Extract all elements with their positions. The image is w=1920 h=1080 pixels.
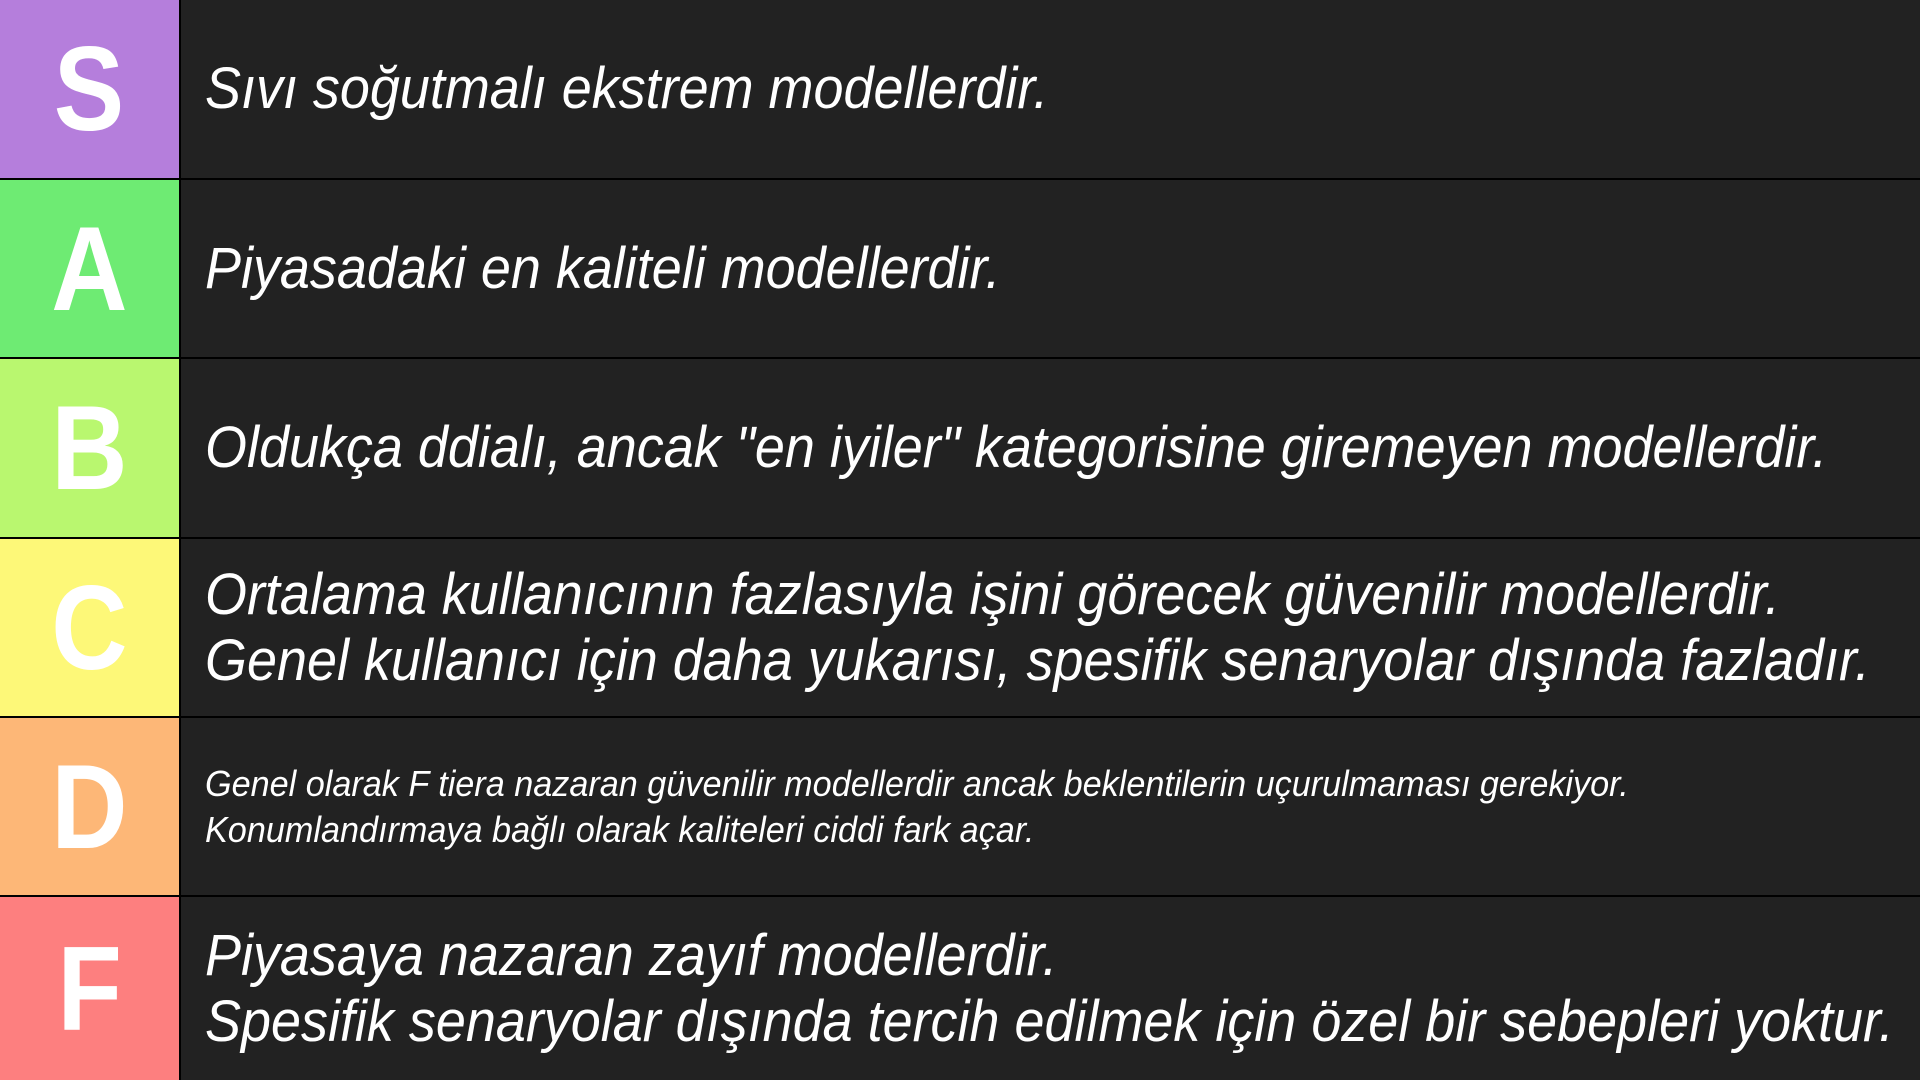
tier-row-f: F Piyasaya nazaran zayıf modellerdir. Sp… [0,897,1920,1080]
tier-description-b: Oldukça ddialı, ancak "en iyiler" katego… [181,359,1920,537]
tier-label-letter-a: A [51,209,127,329]
tier-label-letter-f: F [57,929,122,1049]
tier-label-cell-s[interactable]: S [0,0,181,178]
tier-description-s: Sıvı soğutmalı ekstrem modellerdir. [181,0,1920,178]
tier-text-line: Konumlandırmaya bağlı olarak kaliteleri … [205,807,1825,853]
tier-text-line: Spesifik senaryolar dışında tercih edilm… [205,989,1894,1055]
tier-text-line: Piyasaya nazaran zayıf modellerdir. [205,923,1894,989]
tier-row-c: C Ortalama kullanıcının fazlasıyla işini… [0,539,1920,718]
tier-row-d: D Genel olarak F tiera nazaran güvenilir… [0,718,1920,897]
tier-label-cell-c[interactable]: C [0,539,181,716]
tier-text-line: Oldukça ddialı, ancak "en iyiler" katego… [205,415,1827,481]
tier-label-cell-b[interactable]: B [0,359,181,537]
tier-description-c: Ortalama kullanıcının fazlasıyla işini g… [181,539,1920,716]
tier-text-line: Sıvı soğutmalı ekstrem modellerdir. [205,56,1791,122]
tier-label-letter-b: B [51,388,127,508]
tier-description-d: Genel olarak F tiera nazaran güvenilir m… [181,718,1920,895]
tier-label-cell-a[interactable]: A [0,180,181,357]
tier-label-cell-f[interactable]: F [0,897,181,1080]
tier-text-line: Genel olarak F tiera nazaran güvenilir m… [205,761,1825,807]
tier-label-cell-d[interactable]: D [0,718,181,895]
tier-label-letter-s: S [54,29,124,149]
tier-description-a: Piyasadaki en kaliteli modellerdir. [181,180,1920,357]
tier-description-f: Piyasaya nazaran zayıf modellerdir. Spes… [181,897,1920,1080]
tier-row-s: S Sıvı soğutmalı ekstrem modellerdir. [0,0,1920,180]
tier-row-b: B Oldukça ddialı, ancak "en iyiler" kate… [0,359,1920,539]
tier-text-line: Ortalama kullanıcının fazlasıyla işini g… [205,562,1870,628]
tier-row-a: A Piyasadaki en kaliteli modellerdir. [0,180,1920,359]
tier-label-letter-c: C [51,568,127,688]
tier-list: S Sıvı soğutmalı ekstrem modellerdir. A … [0,0,1920,1080]
tier-text-line: Genel kullanıcı için daha yukarısı, spes… [205,628,1870,694]
tier-label-letter-d: D [51,747,127,867]
tier-text-line: Piyasadaki en kaliteli modellerdir. [205,236,1791,302]
